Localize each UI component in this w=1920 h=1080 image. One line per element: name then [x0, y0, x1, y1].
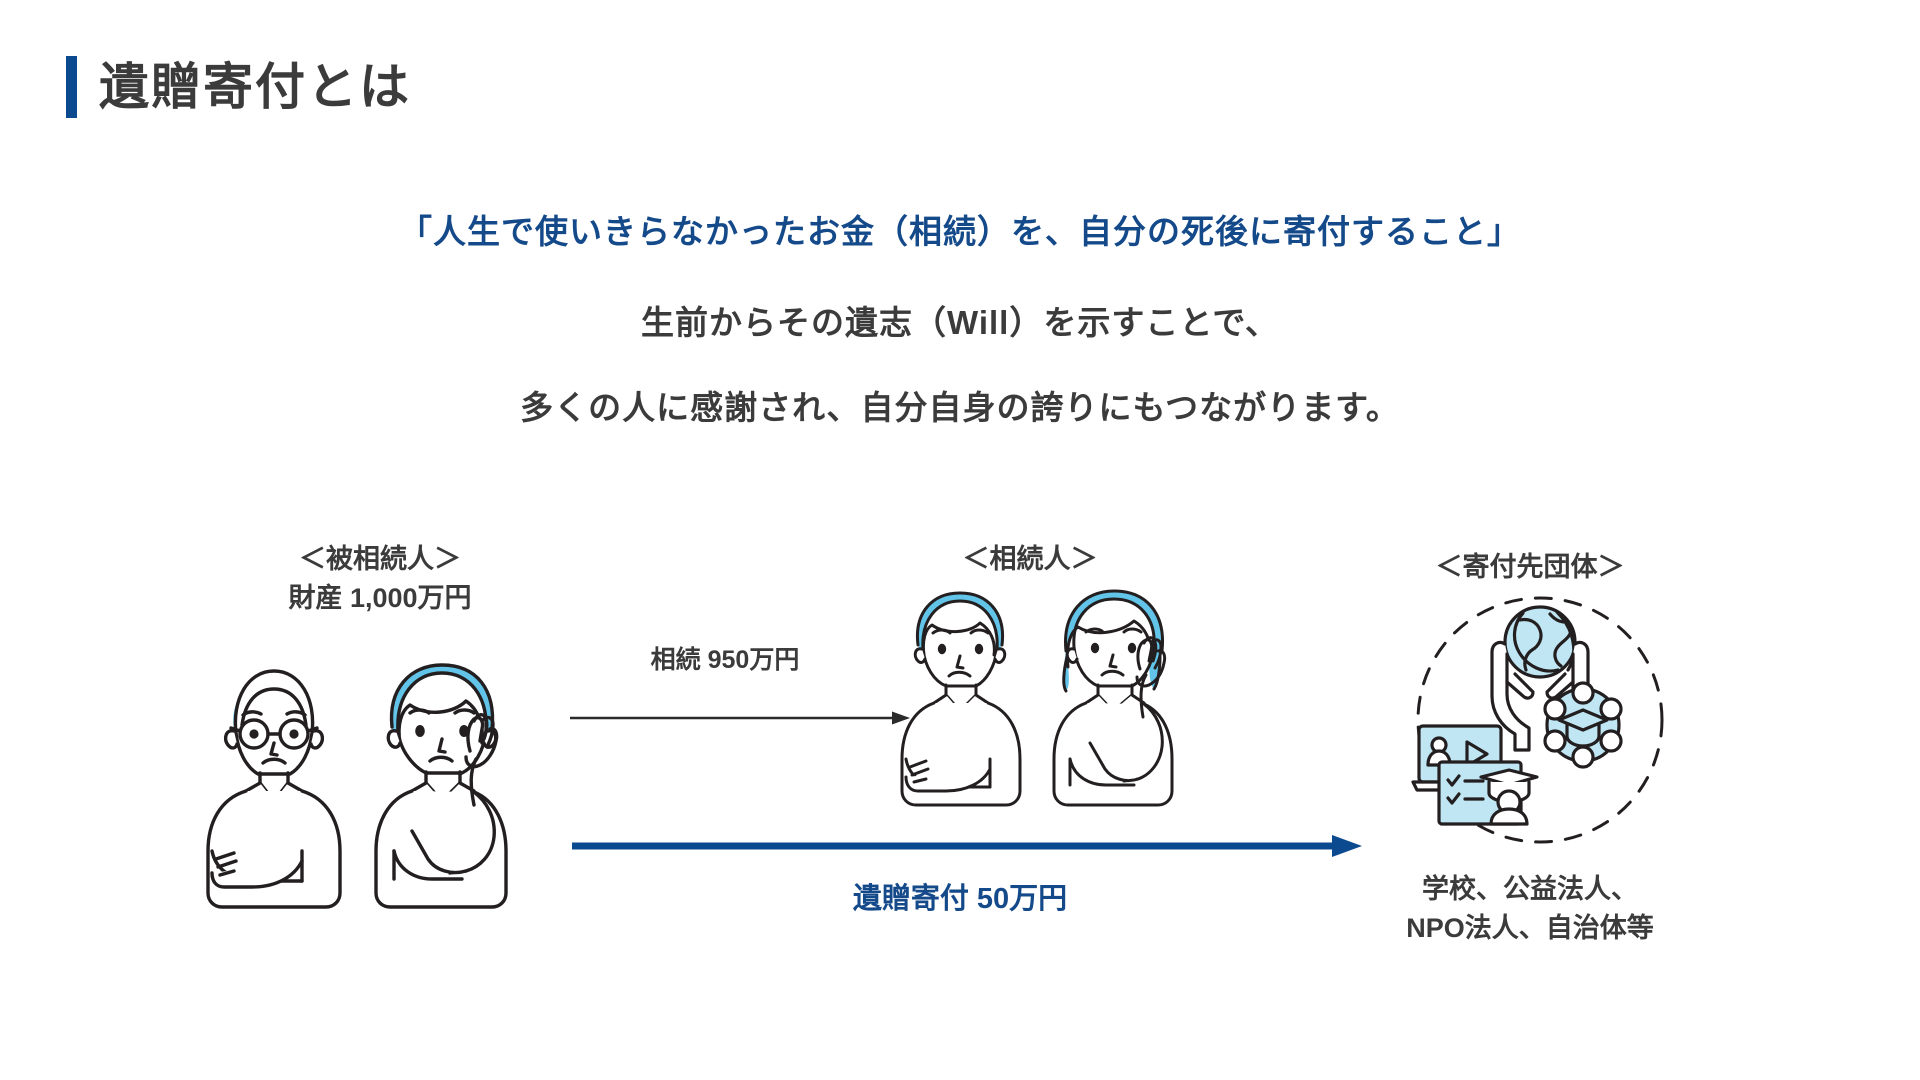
woman-hand-on-cheek-figure	[376, 665, 506, 907]
lead-line-will: 生前からその遺志（Will）を示すことで、	[0, 306, 1920, 339]
bequest-flow-diagram: ＜被相続人＞ 財産 1,000万円 ＜相続人＞ ＜寄付先団体＞ 学校、公益法人、…	[0, 520, 1920, 1040]
heir-title: ＜相続人＞	[830, 540, 1230, 579]
organization-examples-line1: 学校、公益法人、	[1320, 870, 1740, 909]
organization-examples-line2: NPO法人、自治体等	[1320, 909, 1740, 948]
decedent-title: ＜被相続人＞	[200, 540, 560, 579]
decedent-labels: ＜被相続人＞ 財産 1,000万円	[200, 540, 560, 618]
decedent-assets: 財産 1,000万円	[200, 579, 560, 618]
lead-paragraph: 「人生で使いきらなかったお金（相続）を、自分の死後に寄付すること」 生前からその…	[0, 215, 1920, 476]
elderly-man-figure	[208, 671, 340, 907]
lead-line-quote: 「人生で使いきらなかったお金（相続）を、自分の死後に寄付すること」	[0, 215, 1920, 248]
lead-line-pride: 多くの人に感謝され、自分自身の誇りにもつながります。	[0, 391, 1920, 424]
title-accent-bar	[66, 56, 77, 118]
donation-organization-illustration	[1395, 590, 1685, 850]
decedent-couple-illustration	[190, 655, 570, 920]
inheritance-arrow	[570, 708, 910, 728]
heir-man-figure	[902, 593, 1020, 805]
organization-examples: 学校、公益法人、 NPO法人、自治体等	[1320, 870, 1740, 948]
page-title: 遺贈寄付とは	[99, 62, 411, 112]
heir-woman-figure	[1054, 591, 1172, 805]
inheritance-arrow-label: 相続 950万円	[565, 640, 885, 676]
heir-couple-illustration	[900, 585, 1220, 815]
page-header: 遺贈寄付とは	[66, 56, 411, 118]
bequest-arrow	[572, 835, 1362, 857]
bequest-arrow-label: 遺贈寄付 50万円	[640, 875, 1280, 917]
organization-title: ＜寄付先団体＞	[1330, 548, 1730, 587]
